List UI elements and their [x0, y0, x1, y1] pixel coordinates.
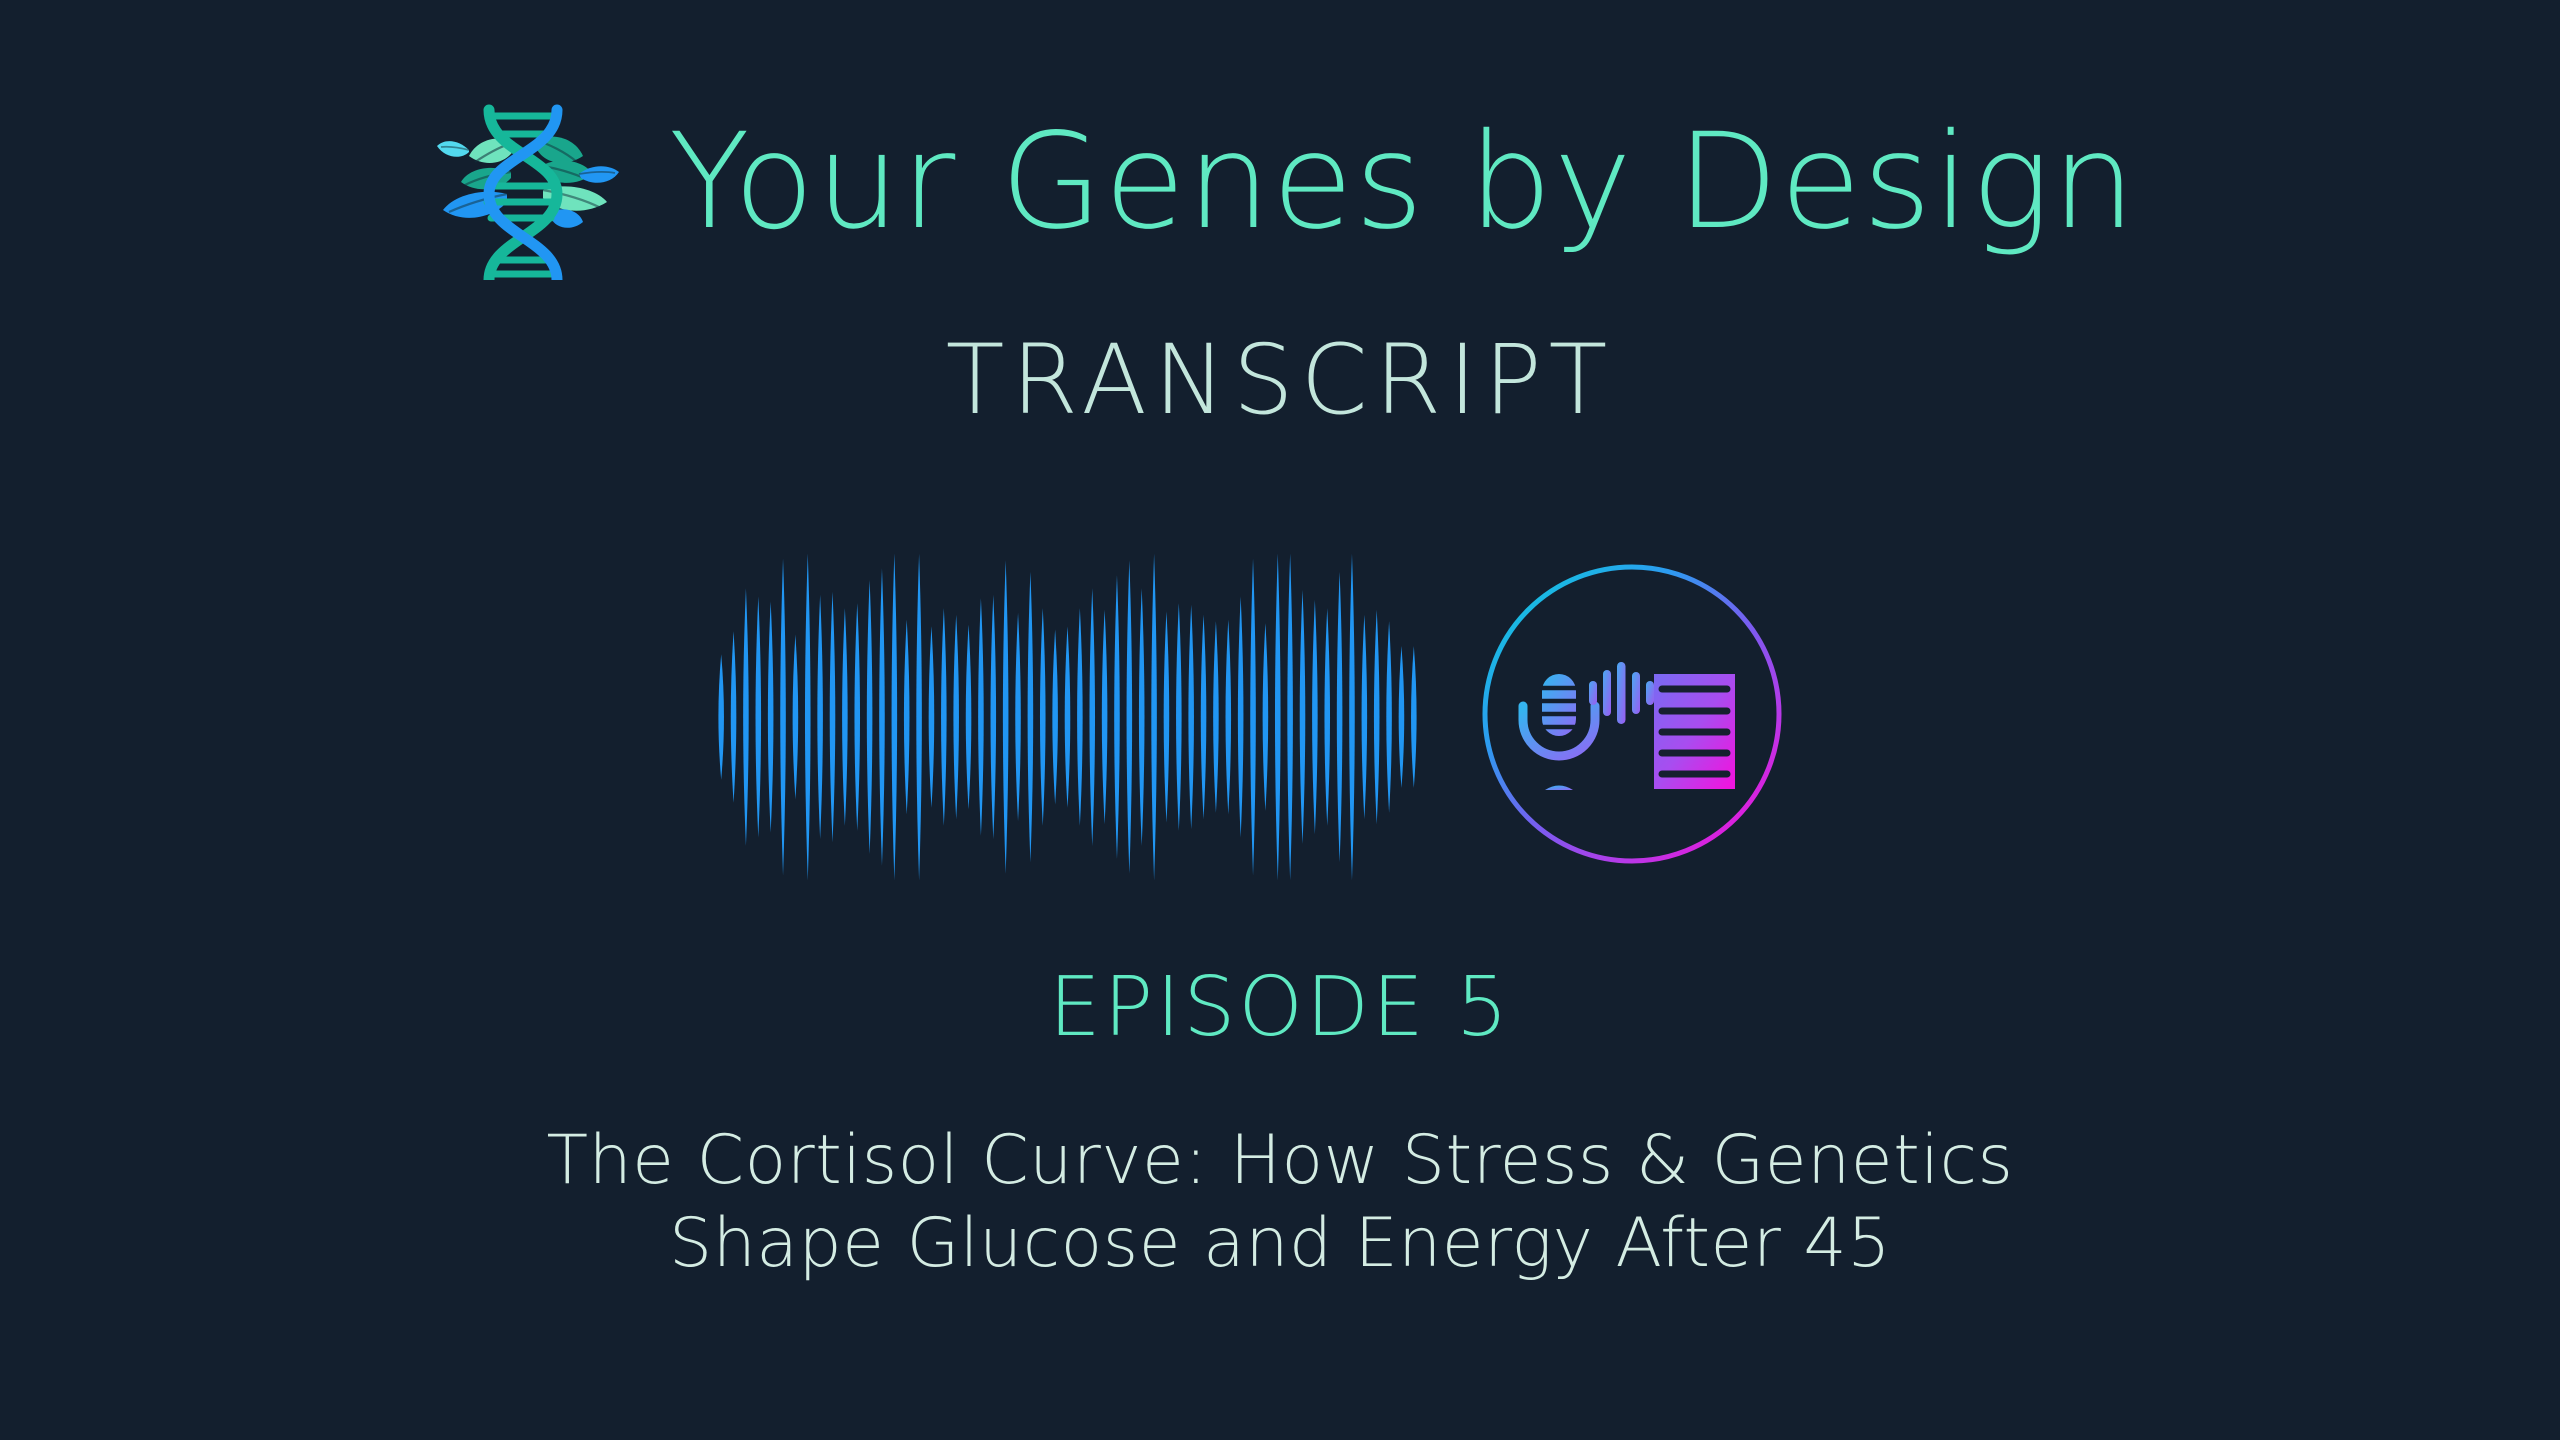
episode-title-line-2: Shape Glucose and Energy After 45 [0, 1203, 2560, 1286]
leaf-group-left [437, 138, 515, 217]
document-lines-icon [1654, 674, 1735, 789]
brand-header: Your Genes by Design [0, 90, 2560, 280]
audio-waveform [715, 552, 1420, 882]
microphone-icon [1523, 674, 1595, 790]
microphone-transcript-badge [1472, 554, 1792, 874]
episode-title-line-1: The Cortisol Curve: How Stress & Genetic… [0, 1120, 2560, 1203]
transcript-title-slide: Your Genes by Design TRANSCRIPT [0, 0, 2560, 1440]
episode-number: EPISODE 5 [0, 960, 2560, 1057]
media-band [0, 552, 2560, 882]
dna-helix-leaves-icon [423, 90, 623, 280]
episode-title: The Cortisol Curve: How Stress & Genetic… [0, 1120, 2560, 1286]
page-title: Your Genes by Design [669, 116, 2137, 254]
section-label-transcript: TRANSCRIPT [0, 332, 2560, 428]
